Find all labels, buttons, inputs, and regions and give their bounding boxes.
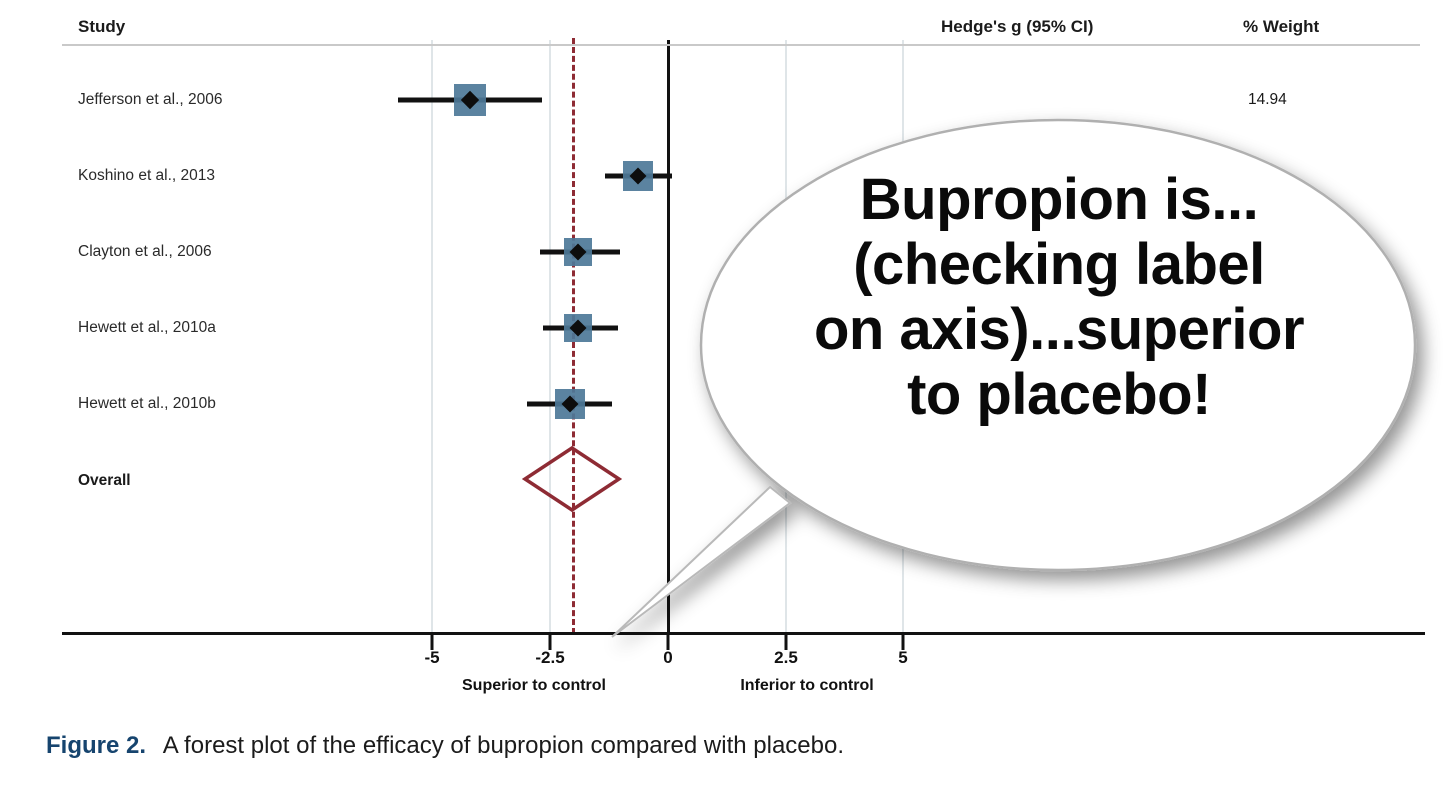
gridline-pos5 xyxy=(902,40,904,632)
header-rule xyxy=(62,44,1420,46)
figure-caption: Figure 2. A forest plot of the efficacy … xyxy=(46,732,844,760)
figure-caption-label: Figure 2. xyxy=(46,732,146,759)
gridline-pos2-5 xyxy=(785,40,787,632)
gridline-neg5 xyxy=(431,40,433,632)
study-label-jefferson: Jefferson et al., 2006 xyxy=(78,91,222,109)
x-tick-label-neg5: -5 xyxy=(424,648,439,668)
study-label-hewett-a: Hewett et al., 2010a xyxy=(78,319,216,337)
axis-direction-right: Inferior to control xyxy=(740,677,873,695)
gridline-neg2-5 xyxy=(549,40,551,632)
weight-jefferson: 14.94 xyxy=(1248,91,1287,109)
figure-caption-text: A forest plot of the efficacy of bupropi… xyxy=(163,732,844,759)
forest-plot: Study Hedge's g (95% CI) % Weight Jeffer… xyxy=(0,0,1456,712)
figure-panel: Study Hedge's g (95% CI) % Weight Jeffer… xyxy=(0,0,1456,790)
header-effect: Hedge's g (95% CI) xyxy=(941,17,1093,37)
x-tick-label-pos2-5: 2.5 xyxy=(774,648,798,668)
x-tick-label-neg2-5: -2.5 xyxy=(535,648,564,668)
study-label-clayton: Clayton et al., 2006 xyxy=(78,243,212,261)
pooled-effect-diamond xyxy=(522,445,622,513)
x-tick-label-pos5: 5 xyxy=(898,648,907,668)
x-tick-label-zero: 0 xyxy=(663,648,672,668)
header-weight: % Weight xyxy=(1243,17,1319,37)
axis-direction-left: Superior to control xyxy=(462,677,606,695)
study-label-koshino: Koshino et al., 2013 xyxy=(78,167,215,185)
null-effect-line xyxy=(667,40,670,632)
x-axis-line xyxy=(62,632,1425,635)
study-label-hewett-b: Hewett et al., 2010b xyxy=(78,395,216,413)
study-label-overall: Overall xyxy=(78,472,131,490)
header-study: Study xyxy=(78,17,125,37)
